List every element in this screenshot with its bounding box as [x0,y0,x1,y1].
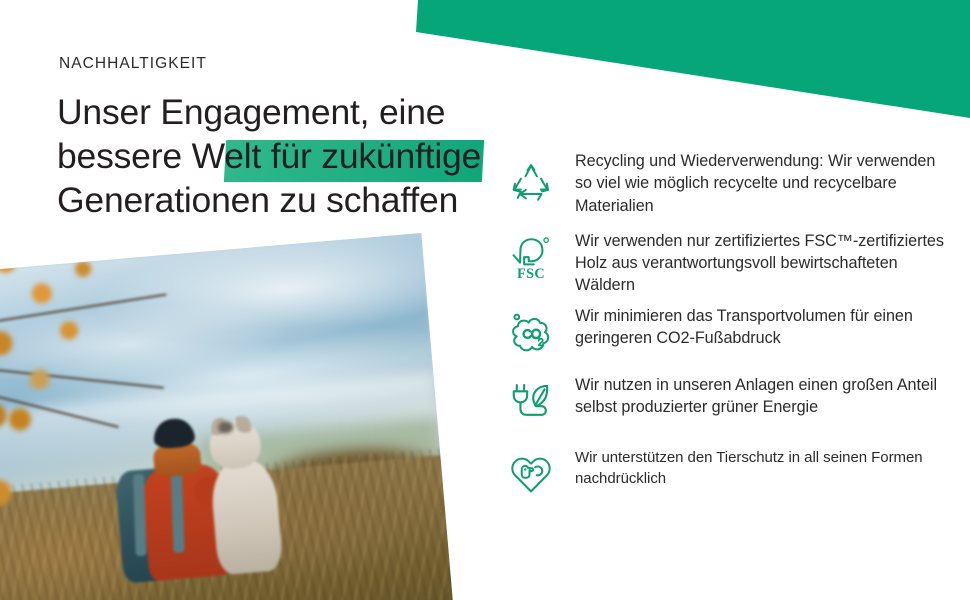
green-energy-plug-icon [503,374,559,430]
autumn-foliage [0,365,117,596]
photo-scene [0,233,453,600]
co2-cloud-icon [503,305,559,361]
animal-welfare-heart-icon [503,447,559,503]
feature-item-animal-welfare: Wir unterstützen den Tierschutz in all s… [503,447,955,503]
sustainability-banner: NACHHALTIGKEIT Unser Engagement, eine be… [0,0,970,600]
feature-text: Wir verwenden nur zertifiziertes FSC™-ze… [559,230,955,297]
feature-text: Recycling und Wiederverwendung: Wir verw… [559,150,955,217]
feature-text: Wir nutzen in unseren Anlagen einen groß… [559,374,955,419]
feature-item-co2: Wir minimieren das Transportvolumen für … [503,305,955,361]
headline-line-2-highlight: Welt für zukünftige [192,136,482,176]
svg-text:FSC: FSC [517,266,545,281]
feature-item-fsc: FSC Wir verwenden nur zertifiziertes FSC… [503,230,955,297]
feature-text: Wir unterstützen den Tierschutz in all s… [559,447,955,489]
eyebrow-label: NACHHALTIGKEIT [59,55,207,73]
hero-photo-content [0,233,453,600]
headline-block: Unser Engagement, eine bessere Welt für … [57,90,577,222]
hero-photo [0,233,453,600]
page-title: Unser Engagement, eine bessere Welt für … [57,90,577,222]
feature-text: Wir minimieren das Transportvolumen für … [559,305,955,350]
feature-item-green-energy: Wir nutzen in unseren Anlagen einen groß… [503,374,955,430]
headline-line-3: Generationen zu schaffen [57,180,458,220]
fsc-logo-icon: FSC [503,230,559,286]
headline-line-1: Unser Engagement, eine [57,92,445,132]
headline-line-2-prefix: bessere [57,136,192,176]
